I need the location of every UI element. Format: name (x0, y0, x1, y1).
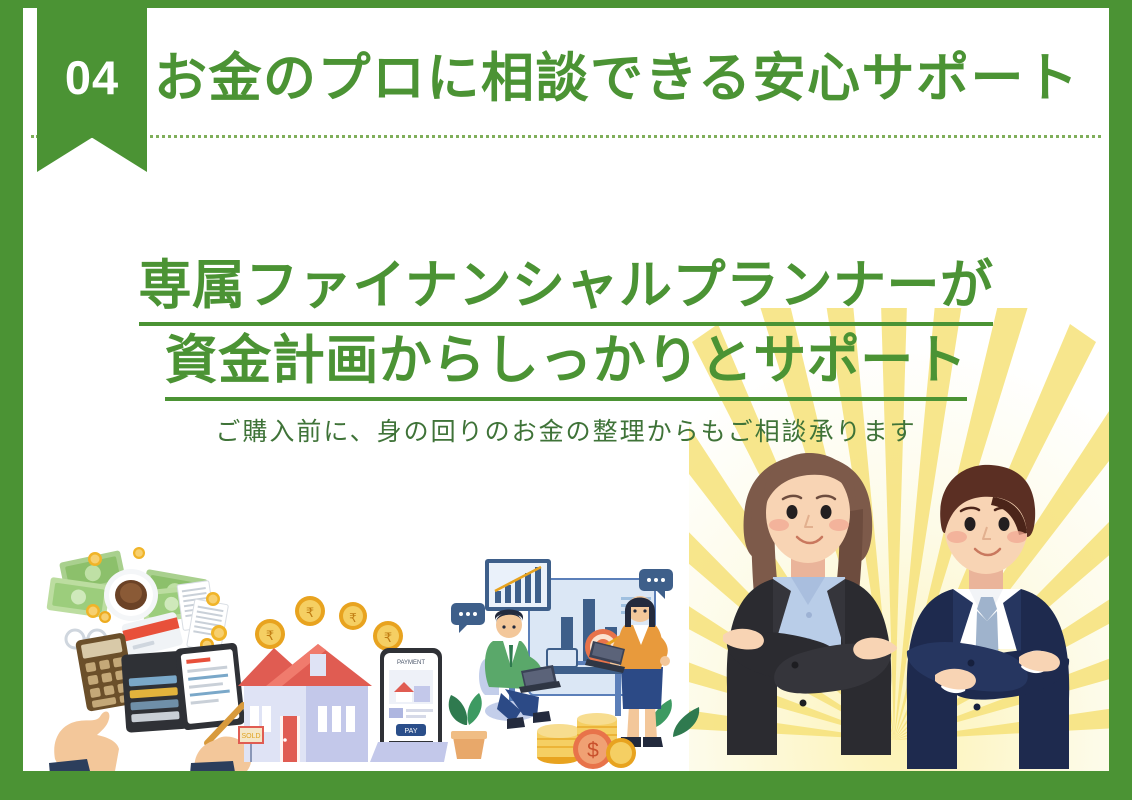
svg-text:₹: ₹ (384, 630, 392, 645)
svg-text:PAYMENT: PAYMENT (397, 660, 425, 666)
financial-planner-duo-illustration (689, 441, 1109, 771)
home-loan-payment-illustration: ₹ ₹ ₹ ₹ (238, 566, 468, 771)
svg-text:SOLD: SOLD (241, 733, 260, 740)
svg-text:₹: ₹ (306, 605, 314, 620)
headline-line-1: 専属ファイナンシャルプランナーが (139, 251, 994, 326)
svg-text:₹: ₹ (349, 611, 357, 625)
svg-text:$: $ (587, 739, 599, 762)
step-number: 04 (37, 54, 147, 101)
header-divider (31, 135, 1101, 138)
svg-text:₹: ₹ (266, 628, 274, 643)
business-consulting-illustration: $ (443, 541, 713, 771)
slide-canvas: 04 お金のプロに相談できる安心サポート 専属ファイナンシャルプランナーが 資金… (23, 8, 1109, 771)
headline-line-2: 資金計画からしっかりとサポート (165, 326, 968, 401)
svg-text:PAY: PAY (405, 728, 418, 735)
illustration-strip: ₹ ₹ ₹ ₹ (23, 441, 1109, 771)
subtitle: ご購入前に、身の回りのお金の整理からもご相談承ります (23, 416, 1109, 449)
slide-root: 04 お金のプロに相談できる安心サポート 専属ファイナンシャルプランナーが 資金… (0, 0, 1132, 800)
page-title: お金のプロに相談できる安心サポート (154, 52, 1079, 105)
headline: 専属ファイナンシャルプランナーが 資金計画からしっかりとサポート (23, 251, 1109, 401)
